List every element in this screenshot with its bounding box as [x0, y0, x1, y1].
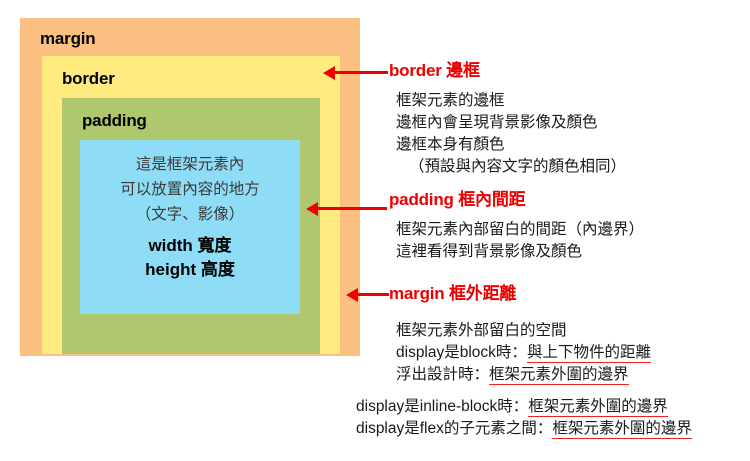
annotation-margin-line-2-emphasis: 與上下物件的距離: [527, 344, 651, 363]
annotation-margin-line-3-emphasis: 框架元素外圍的邊界: [489, 366, 629, 385]
content-line-3: （文字、影像）: [80, 202, 300, 227]
content-line-2: 可以放置內容的地方: [80, 177, 300, 202]
margin-label: margin: [40, 30, 95, 47]
annotation-margin-body: 框架元素外部留白的空間 display是block時：與上下物件的距離 浮出設計…: [389, 320, 651, 386]
annotation-border-line-3: 邊框本身有顏色: [396, 134, 626, 156]
annotation-margin-line-1: 框架元素外部留白的空間: [396, 320, 651, 342]
annotation-border-line-1: 框架元素的邊框: [396, 90, 626, 112]
annotation-border-line-4: （預設與內容文字的顏色相同）: [396, 156, 626, 178]
content-height-label: height 高度: [80, 258, 300, 282]
annotation-margin-line-3-prefix: 浮出設計時：: [396, 366, 489, 383]
annotation-border-line-2: 邊框內會呈現背景影像及顏色: [396, 112, 626, 134]
arrow-to-border-icon: [334, 71, 388, 74]
annotation-padding-title: padding 框內間距: [389, 191, 644, 210]
annotation-padding-body: 框架元素內部留白的間距（內邊界） 這裡看得到背景影像及顏色: [389, 219, 644, 263]
content-width-label: width 寬度: [80, 234, 300, 258]
annotation-border: border 邊框 框架元素的邊框 邊框內會呈現背景影像及顏色 邊框本身有顏色 …: [389, 62, 626, 178]
arrow-to-padding-icon: [317, 207, 387, 210]
annotation-extra-line-1: display是inline-block時：框架元素外圍的邊界: [356, 396, 692, 418]
box-model-padding-area: padding 這是框架元素內 可以放置內容的地方 （文字、影像） width …: [62, 98, 320, 354]
annotation-padding: padding 框內間距 框架元素內部留白的間距（內邊界） 這裡看得到背景影像及…: [389, 191, 644, 263]
box-model-content-area: 這是框架元素內 可以放置內容的地方 （文字、影像） width 寬度 heigh…: [80, 140, 300, 314]
box-model-border-area: border padding 這是框架元素內 可以放置內容的地方 （文字、影像）…: [42, 56, 340, 354]
content-description: 這是框架元素內 可以放置內容的地方 （文字、影像）: [80, 152, 300, 227]
annotation-border-title: border 邊框: [389, 62, 626, 81]
annotation-border-body: 框架元素的邊框 邊框內會呈現背景影像及顏色 邊框本身有顏色 （預設與內容文字的顏…: [389, 90, 626, 178]
annotation-margin-line-2-prefix: display是block時：: [396, 344, 527, 361]
annotation-extra-line-1-prefix: display是inline-block時：: [356, 398, 528, 415]
content-line-1: 這是框架元素內: [80, 152, 300, 177]
annotation-extra-line-2: display是flex的子元素之間：框架元素外圍的邊界: [356, 418, 692, 440]
annotation-margin-line-3: 浮出設計時：框架元素外圍的邊界: [396, 364, 651, 386]
box-model-margin-area: margin border padding 這是框架元素內 可以放置內容的地方 …: [20, 18, 360, 356]
annotation-margin: margin 框外距離 框架元素外部留白的空間 display是block時：與…: [389, 285, 651, 386]
annotation-extra-line-1-emphasis: 框架元素外圍的邊界: [528, 398, 668, 417]
arrow-to-margin-icon: [357, 293, 389, 296]
content-dimensions: width 寬度 height 高度: [80, 234, 300, 282]
border-label: border: [62, 70, 115, 87]
annotation-margin-title: margin 框外距離: [389, 285, 651, 304]
annotation-extra: display是inline-block時：框架元素外圍的邊界 display是…: [356, 396, 692, 440]
annotation-padding-line-1: 框架元素內部留白的間距（內邊界）: [396, 219, 644, 241]
annotation-margin-line-2: display是block時：與上下物件的距離: [396, 342, 651, 364]
padding-label: padding: [82, 112, 147, 129]
annotation-extra-line-2-emphasis: 框架元素外圍的邊界: [552, 420, 692, 439]
annotation-padding-line-2: 這裡看得到背景影像及顏色: [396, 241, 644, 263]
annotation-extra-line-2-prefix: display是flex的子元素之間：: [356, 420, 552, 437]
